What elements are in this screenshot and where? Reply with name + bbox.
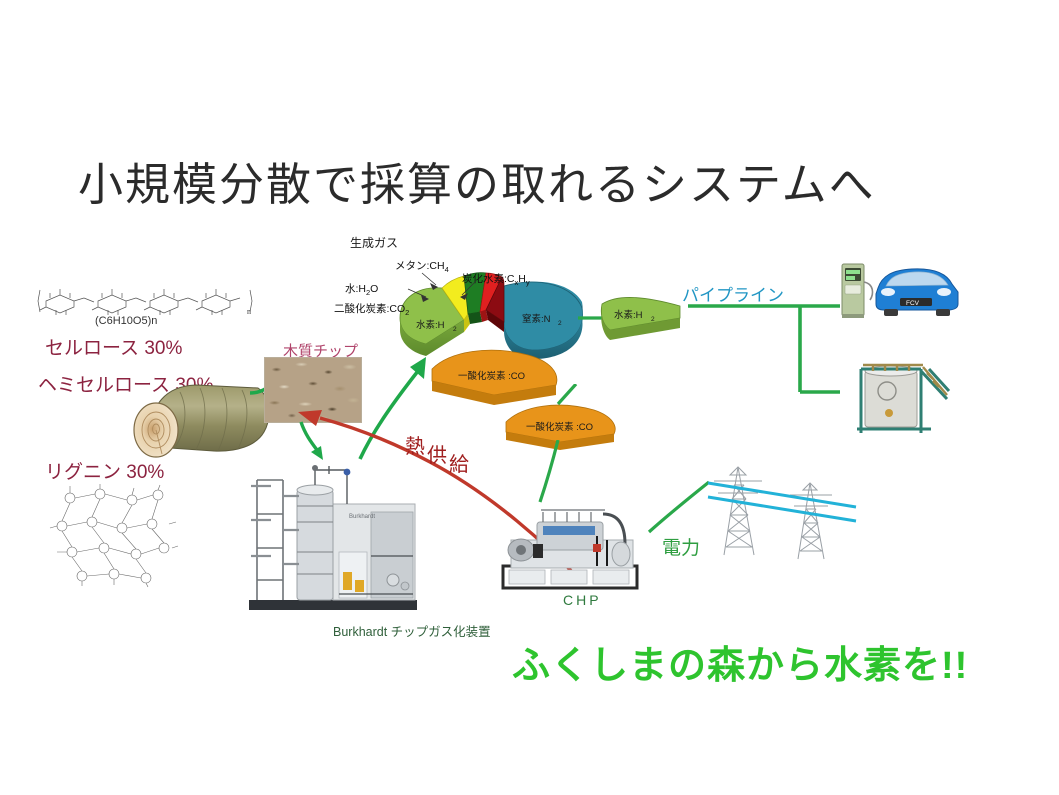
svg-text:窒素:N: 窒素:N — [522, 313, 551, 325]
cellulose-formula: (C6H10O5)n — [95, 315, 157, 327]
heat-char-1: 熱 — [405, 436, 425, 458]
svg-text:2: 2 — [651, 316, 655, 323]
hydrogen-distribution-pipeline — [688, 296, 848, 402]
connector-co-to-chp — [530, 440, 570, 506]
power-label: 電力 — [662, 533, 700, 560]
heat-supply-label: 熱供給 — [405, 430, 465, 459]
fcv-refuelling-illustration: FCV — [840, 258, 970, 320]
chp-caption: CHP — [563, 592, 602, 608]
gasifier-caption: Burkhardt チップガス化装置 — [333, 621, 491, 640]
slide-canvas: 小規模分散で採算の取れるシステムへ — [0, 0, 1059, 795]
page-title: 小規模分散で採算の取れるシステムへ — [78, 148, 978, 213]
cellulose-structure-icon: n — [36, 286, 254, 316]
cellulose-label: セルロース 30% — [45, 333, 182, 360]
svg-text:一酸化炭素 :CO: 一酸化炭素 :CO — [526, 421, 593, 433]
svg-text:水素:H: 水素:H — [614, 309, 643, 321]
svg-text:n: n — [247, 307, 251, 316]
tagline: ふくしまの森から水素を!! — [512, 634, 968, 689]
gasifier-unit-illustration: Burkhardt — [243, 460, 423, 618]
svg-text:2: 2 — [558, 320, 562, 327]
svg-text:一酸化炭素 :CO: 一酸化炭素 :CO — [458, 370, 525, 382]
chp-engine-illustration — [497, 500, 647, 595]
heat-char-3: 給 — [449, 454, 469, 476]
connector-co-wedges — [548, 384, 584, 408]
pie-chart-title: 生成ガス — [350, 234, 398, 251]
transmission-towers-illustration — [700, 455, 860, 560]
svg-text:2: 2 — [453, 326, 457, 333]
hydrogen-output-wedge: 水素:H 2 — [598, 288, 692, 348]
lignin-structure-icon — [48, 482, 180, 588]
pie-callout-leader-lines — [330, 255, 500, 325]
svg-text:Burkhardt: Burkhardt — [349, 514, 375, 520]
svg-text:FCV: FCV — [906, 300, 920, 307]
hydrogen-storage-tank-illustration — [843, 355, 955, 435]
heat-char-2: 供 — [427, 445, 447, 467]
